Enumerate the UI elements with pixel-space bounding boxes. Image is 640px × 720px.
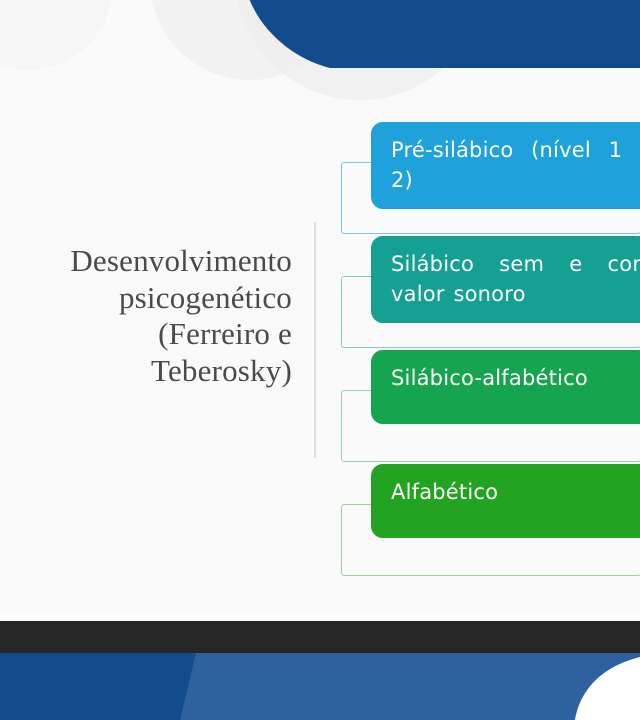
footer-accent-shapes	[0, 653, 640, 720]
page-title-line-2: psicogenético	[0, 280, 292, 317]
slide-root: Desenvolvimento psicogenético (Ferreiro …	[0, 0, 640, 720]
vertical-divider	[314, 222, 316, 458]
header-accent-shape	[0, 0, 640, 86]
footer-accent-svg	[0, 653, 640, 720]
page-title: Desenvolvimento psicogenético (Ferreiro …	[0, 243, 292, 389]
page-title-line-1: Desenvolvimento	[0, 243, 292, 280]
page-title-line-4: Teberosky)	[0, 353, 292, 390]
slide-canvas: Desenvolvimento psicogenético (Ferreiro …	[0, 0, 640, 612]
page-title-line-3: (Ferreiro e	[0, 316, 292, 353]
stage-node-4-label: Alfabético	[371, 464, 640, 538]
bottom-gap	[0, 612, 640, 621]
stage-node-3-label: Silábico-alfabético	[371, 350, 640, 424]
stage-node-1-label: Pré-silábico (nível 1 e 2)	[371, 122, 640, 209]
stage-node-2-label: Silábico sem e com valor sonoro	[371, 236, 640, 323]
bottom-dark-bar	[0, 621, 640, 653]
